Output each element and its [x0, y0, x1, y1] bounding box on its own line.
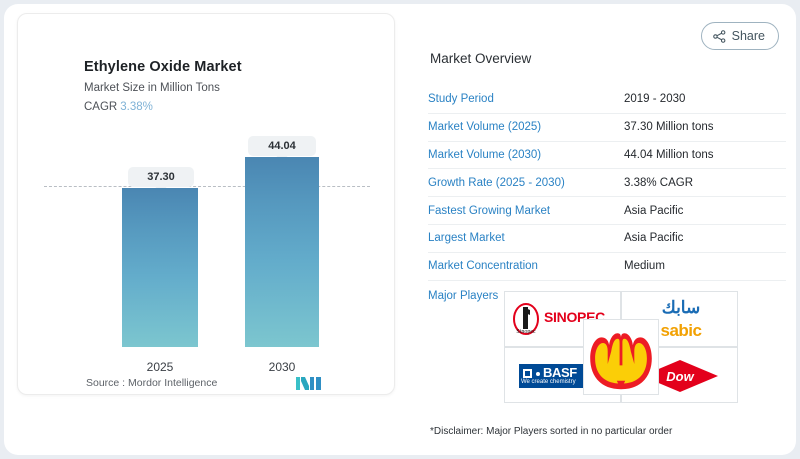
logo-shell — [583, 319, 659, 395]
row-key: Fastest Growing Market — [428, 205, 624, 217]
row-value: Asia Pacific — [624, 232, 683, 244]
basf-square-icon — [523, 369, 532, 378]
disclaimer-text: *Disclaimer: Major Players sorted in no … — [430, 426, 672, 437]
svg-text:Sinopec: Sinopec — [516, 329, 536, 335]
share-button[interactable]: Share — [701, 22, 779, 50]
table-row: Market Volume (2030) 44.04 Million tons — [428, 142, 786, 170]
share-nodes-icon — [713, 30, 726, 43]
major-players-logos: Sinopec SINOPEC سابك sabic BASF We creat… — [501, 291, 741, 407]
share-button-label: Share — [732, 29, 765, 43]
basf-dot-icon — [536, 372, 540, 376]
x-tick-2025: 2025 — [120, 360, 200, 374]
table-row: Market Concentration Medium — [428, 253, 786, 281]
row-value: 44.04 Million tons — [624, 149, 714, 161]
x-tick-2030: 2030 — [242, 360, 322, 374]
shell-pecten-icon — [586, 322, 656, 392]
table-row: Growth Rate (2025 - 2030) 3.38% CAGR — [428, 169, 786, 197]
bar-2025[interactable] — [122, 188, 198, 347]
mordor-intelligence-logo-icon — [296, 376, 322, 390]
row-key: Market Volume (2025) — [428, 121, 624, 133]
row-value: Asia Pacific — [624, 205, 683, 217]
row-value: 2019 - 2030 — [624, 93, 685, 105]
row-value: 3.38% CAGR — [624, 177, 693, 189]
row-key: Growth Rate (2025 - 2030) — [428, 177, 624, 189]
bar-value-label-2025: 37.30 — [128, 167, 194, 187]
source-text: Source : Mordor Intelligence — [86, 377, 217, 389]
row-key: Largest Market — [428, 232, 624, 244]
bar-value-label-2030: 44.04 — [248, 136, 316, 156]
cagr-label: CAGR — [84, 101, 117, 113]
table-row: Market Volume (2025) 37.30 Million tons — [428, 114, 786, 142]
sabic-arabic-wordmark: سابك — [634, 298, 728, 318]
reference-dashed-line — [44, 186, 370, 187]
row-value: 37.30 Million tons — [624, 121, 714, 133]
cagr-row: CAGR3.38% — [84, 101, 153, 113]
row-key: Study Period — [428, 93, 624, 105]
basf-wordmark: BASF — [543, 365, 577, 380]
row-value: Medium — [624, 260, 665, 272]
sinopec-mark-icon: Sinopec — [513, 303, 539, 335]
market-overview-title: Market Overview — [430, 51, 531, 66]
table-row: Fastest Growing Market Asia Pacific — [428, 197, 786, 225]
chart-subtitle: Market Size in Million Tons — [84, 82, 220, 94]
basf-tagline: We create chemistry — [521, 379, 576, 385]
table-row: Study Period 2019 - 2030 — [428, 86, 786, 114]
report-page: Ethylene Oxide Market Market Size in Mil… — [4, 4, 796, 455]
row-key: Market Concentration — [428, 260, 624, 272]
bar-2030[interactable] — [245, 157, 319, 347]
chart-title: Ethylene Oxide Market — [84, 59, 242, 75]
cagr-value: 3.38% — [120, 101, 153, 113]
market-overview-table: Study Period 2019 - 2030 Market Volume (… — [428, 86, 786, 311]
bar-chart-plot: 37.30 44.04 2025 2030 — [30, 132, 382, 352]
row-key: Market Volume (2030) — [428, 149, 624, 161]
table-row: Largest Market Asia Pacific — [428, 225, 786, 253]
chart-card: Ethylene Oxide Market Market Size in Mil… — [17, 13, 395, 395]
